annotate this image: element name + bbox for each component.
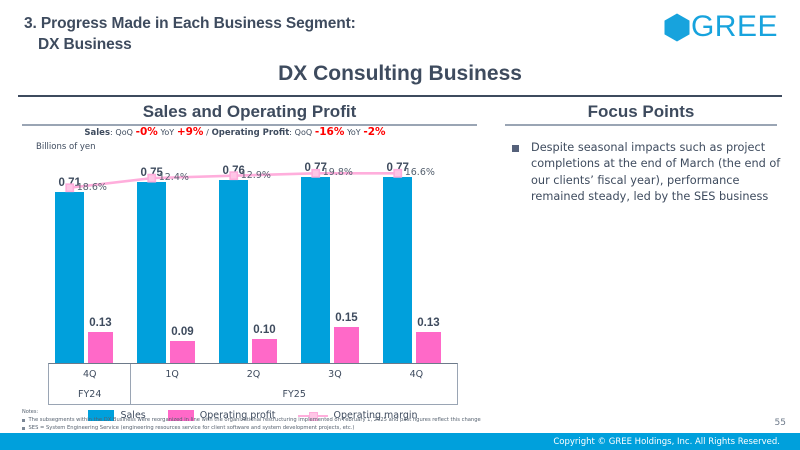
kpi-op-label: Operating Profit [212,128,290,138]
footnote-row: SES = System Engineering Service (engine… [22,424,722,432]
page-title: 3. Progress Made in Each Business Segmen… [24,14,584,55]
footer-bar: Copyright © GREE Holdings, Inc. All Righ… [0,433,800,450]
footnote-bullet-icon [22,427,25,430]
footnotes: Notes: The subsegments within the DX Bus… [22,409,722,432]
footnotes-heading: Notes: [22,409,722,415]
chart-unit-label: Billions of yen [36,142,96,152]
footnote-bullet-icon [22,419,25,422]
bar-group: 0.770.13 [376,158,458,363]
bar-sales: 0.71 [55,192,84,363]
bar-operating-profit: 0.13 [88,332,113,363]
bar-operating-profit: 0.13 [416,332,441,363]
axis-quarter-label: 1Q [131,364,212,384]
margin-value-label: 12.4% [159,172,189,183]
kpi-sales-qoq-value: -0% [136,126,158,138]
gree-hexagon-icon [664,13,690,42]
bar-value-label-operating-profit: 0.09 [171,326,193,338]
focus-bullet-item: Despite seasonal impacts such as project… [512,140,784,206]
page-title-line2: DX Business [24,35,584,56]
kpi-op-qoq-value: -16% [315,126,345,138]
section-heading-sales: Sales and Operating Profit [22,102,477,126]
chart-plot-area: 0.710.130.750.090.760.100.770.150.770.13… [48,158,458,363]
axis-fiscal-year-group: 1Q2Q3Q4QFY25 [130,364,457,404]
bar-value-label-operating-profit: 0.13 [417,317,439,329]
page-title-line1: 3. Progress Made in Each Business Segmen… [24,15,356,32]
square-bullet-icon [512,145,519,152]
bar-value-label-operating-profit: 0.15 [335,312,357,324]
main-title: DX Consulting Business [0,62,800,86]
focus-bullet-text: Despite seasonal impacts such as project… [531,140,784,206]
kpi-sales-label: Sales [84,128,110,138]
kpi-op-qoq-label: QoQ [295,128,313,137]
copyright-text: Copyright © GREE Holdings, Inc. All Righ… [553,437,780,447]
axis-quarter-label: 4Q [49,364,130,384]
axis-fiscal-year-group: 4QFY24 [49,364,130,404]
bar-group: 0.760.10 [212,158,294,363]
bar-value-label-operating-profit: 0.10 [253,324,275,336]
bar-sales: 0.75 [137,182,166,363]
margin-value-label: 12.9% [241,170,271,181]
kpi-sales-yoy-value: +9% [177,126,204,138]
section-heading-focus: Focus Points [505,102,777,126]
kpi-op-yoy-value: -2% [363,126,385,138]
chart-x-axis-table: 4QFY241Q2Q3Q4QFY25 [48,363,458,405]
page-number: 55 [775,418,786,428]
kpi-separator: / [206,128,209,137]
gree-wordmark: GREE [691,12,778,42]
section-heading-sales-label: Sales and Operating Profit [143,102,357,121]
margin-value-label: 18.6% [77,182,107,193]
bar-sales: 0.76 [219,180,248,363]
bar-value-label-operating-profit: 0.13 [89,317,111,329]
kpi-sales-qoq-label: QoQ [115,128,133,137]
kpi-sales-yoy-label: YoY [161,128,175,137]
margin-value-label: 19.8% [323,167,353,178]
margin-value-label: 16.6% [405,167,435,178]
axis-fiscal-year-label: FY25 [131,384,457,404]
axis-fiscal-year-label: FY24 [49,384,130,404]
section-heading-focus-label: Focus Points [588,102,695,121]
slide-root: 3. Progress Made in Each Business Segmen… [0,0,800,450]
bar-operating-profit: 0.09 [170,341,195,363]
bar-operating-profit: 0.15 [334,327,359,363]
bar-group: 0.750.09 [130,158,212,363]
bar-sales: 0.77 [383,177,412,363]
bar-group-container: 0.710.130.750.090.760.100.770.150.770.13 [48,158,458,363]
kpi-op-yoy-label: YoY [347,128,361,137]
axis-quarter-label: 4Q [376,364,457,384]
bar-sales: 0.77 [301,177,330,363]
chart-panel: Sales: QoQ -0% YoY +9% / Operating Profi… [20,126,490,386]
section-heading-focus-rule [505,124,777,126]
gree-logo: GREE [664,12,778,42]
kpi-summary-line: Sales: QoQ -0% YoY +9% / Operating Profi… [20,126,450,138]
bar-operating-profit: 0.10 [252,339,277,363]
footnote-text: The subsegments within the DX Business w… [29,416,481,424]
footnote-row: The subsegments within the DX Business w… [22,416,722,424]
header-divider [18,95,782,97]
axis-quarter-label: 3Q [294,364,375,384]
focus-points-panel: Despite seasonal impacts such as project… [512,140,784,206]
bar-group: 0.770.15 [294,158,376,363]
axis-quarter-label: 2Q [213,364,294,384]
footnote-text: SES = System Engineering Service (engine… [29,424,355,432]
